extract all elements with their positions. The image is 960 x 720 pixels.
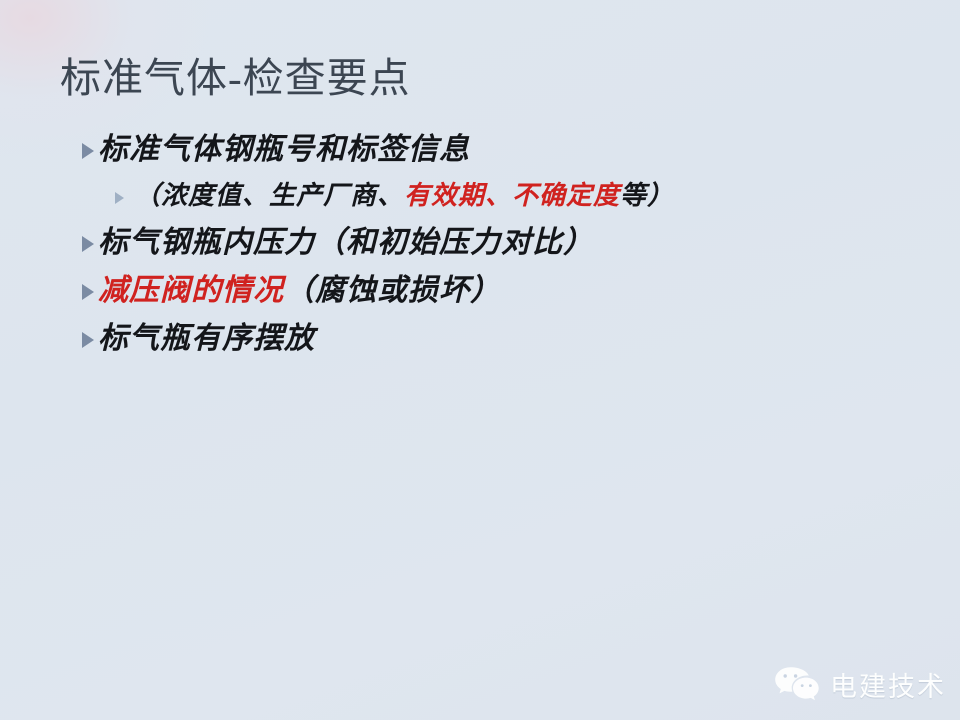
watermark-label: 电建技术 [830, 665, 946, 704]
triangle-right-icon [82, 236, 94, 252]
list-item-text-part: （浓度值、生产厂商、 [134, 180, 404, 212]
page-title: 标准气体-检查要点 [60, 56, 411, 101]
list-item-text-tail: （腐蚀或损坏） [284, 273, 501, 309]
triangle-right-icon [82, 143, 94, 159]
list-item-text: 标气钢瓶内压力（和初始压力对比） [98, 225, 594, 261]
wechat-icon [774, 664, 820, 704]
list-item-text-highlight: 减压阀的情况 [98, 273, 284, 309]
list-item-text: 标气瓶有序摆放 [98, 321, 315, 357]
list-item: 标气瓶有序摆放 [82, 321, 902, 369]
bullet-list: 标准气体钢瓶号和标签信息 （浓度值、生产厂商、有效期、不确定度等） 标气钢瓶内压… [82, 132, 902, 369]
triangle-right-small-icon [115, 192, 124, 204]
triangle-right-icon [82, 332, 94, 348]
list-item-text-tail: 等） [620, 180, 674, 212]
list-item-sub: （浓度值、生产厂商、有效期、不确定度等） [115, 180, 902, 225]
list-item-text: 标准气体钢瓶号和标签信息 [98, 132, 470, 168]
list-item: 减压阀的情况（腐蚀或损坏） [82, 273, 902, 321]
list-item: 标准气体钢瓶号和标签信息 [82, 132, 902, 180]
list-item-text-highlight: 有效期、不确定度 [404, 180, 620, 212]
watermark: 电建技术 [774, 664, 946, 704]
triangle-right-icon [82, 284, 94, 300]
slide-canvas: 标准气体-检查要点 标准气体钢瓶号和标签信息 （浓度值、生产厂商、有效期、不确定… [0, 0, 960, 720]
list-item: 标气钢瓶内压力（和初始压力对比） [82, 225, 902, 273]
